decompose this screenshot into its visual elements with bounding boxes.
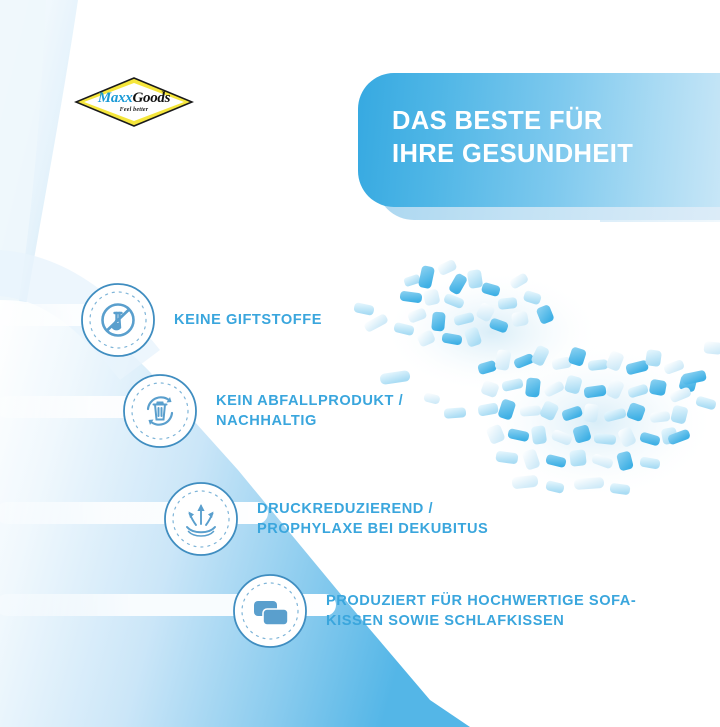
- feature-badge: [232, 573, 308, 649]
- feature-label: DRUCKREDUZIEREND / PROPHYLAXE BEI DEKUBI…: [257, 499, 488, 539]
- recycling-bin-icon: [122, 373, 198, 449]
- feature-label: KEIN ABFALLPRODUKT / NACHHALTIG: [216, 391, 403, 431]
- feature-item-no-toxins[interactable]: KEINE GIFTSTOFFE: [80, 282, 322, 358]
- page-title-line2: IHRE GESUNDHEIT: [392, 138, 712, 171]
- pillows-icon: [232, 573, 308, 649]
- feature-item-pressure-relief[interactable]: DRUCKREDUZIEREND / PROPHYLAXE BEI DEKUBI…: [163, 481, 488, 557]
- feature-label: KEINE GIFTSTOFFE: [174, 310, 322, 330]
- feature-item-pillows[interactable]: PRODUZIERT FÜR HOCHWERTIGE SOFA- KISSEN …: [232, 573, 636, 649]
- brand-logo: MaxxGoods Feel better: [74, 76, 194, 128]
- logo-wordmark: MaxxGoods: [74, 91, 194, 106]
- feature-item-no-waste[interactable]: KEIN ABFALLPRODUKT / NACHHALTIG: [122, 373, 403, 449]
- feature-badge: [80, 282, 156, 358]
- logo-word-goods: Goods: [132, 90, 170, 106]
- feature-badge: [122, 373, 198, 449]
- logo-word-maxx: Maxx: [98, 90, 133, 106]
- pressure-relief-arrows-icon: [163, 481, 239, 557]
- infographic-poster: MaxxGoods Feel better DAS BESTE FÜR IHRE…: [0, 0, 720, 727]
- logo-tagline: Feel better: [74, 107, 194, 113]
- page-title-line1: DAS BESTE FÜR: [392, 107, 603, 135]
- page-title: DAS BESTE FÜR IHRE GESUNDHEIT: [392, 105, 712, 171]
- no-toxins-icon: [80, 282, 156, 358]
- feature-label: PRODUZIERT FÜR HOCHWERTIGE SOFA- KISSEN …: [326, 591, 636, 631]
- feature-badge: [163, 481, 239, 557]
